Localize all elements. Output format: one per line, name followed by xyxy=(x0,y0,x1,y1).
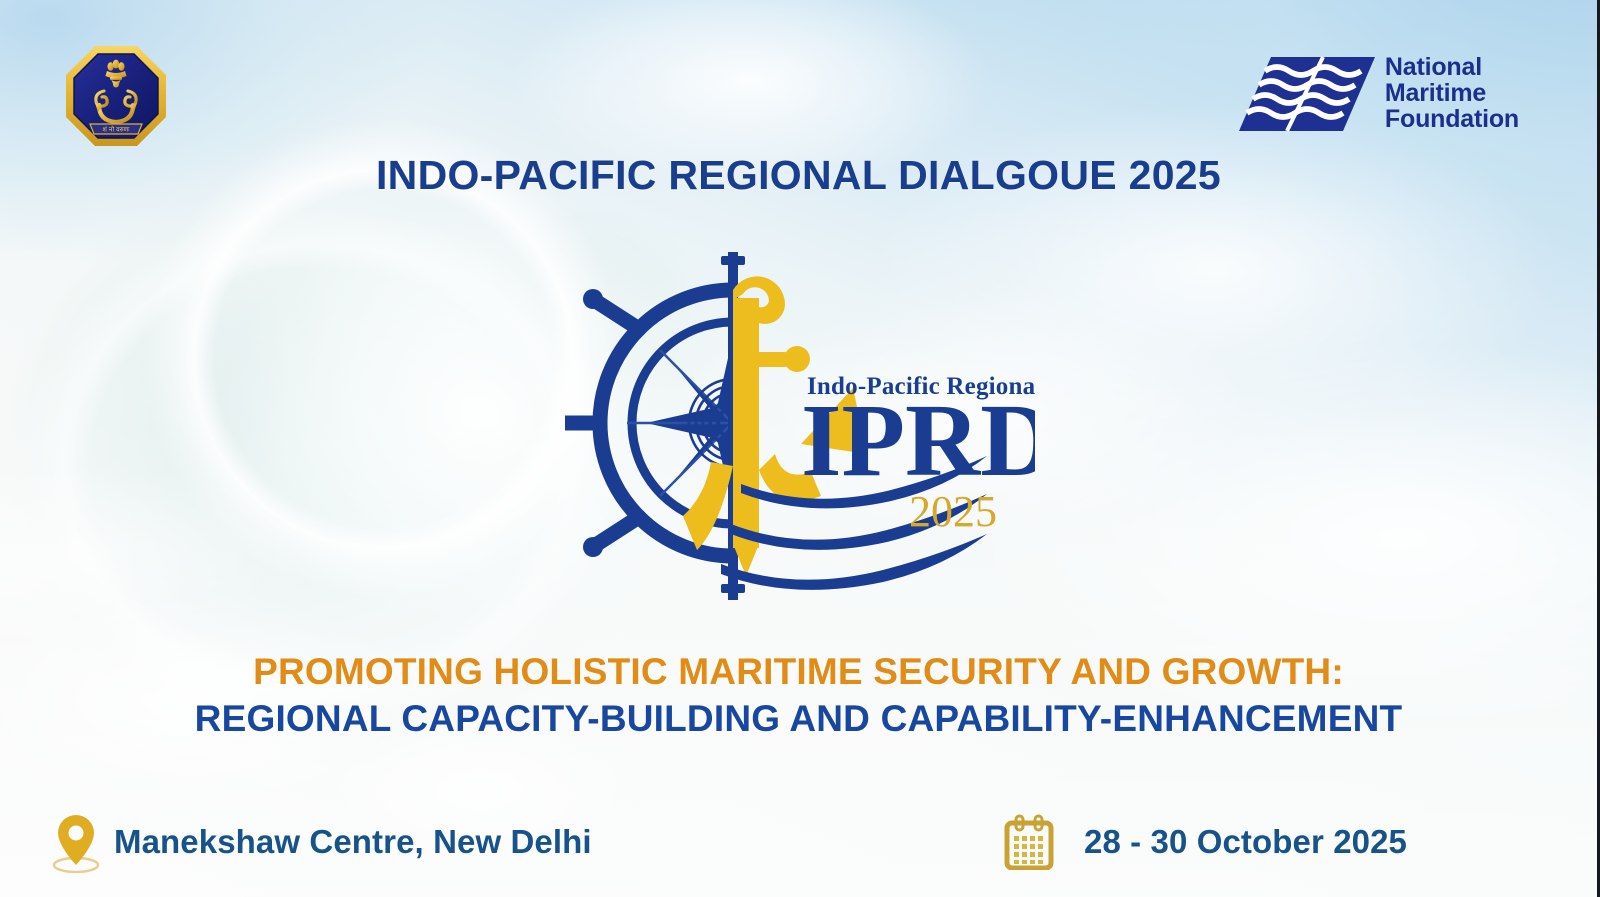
date-block: 28 - 30 October 2025 xyxy=(1004,805,1407,879)
map-pin-icon xyxy=(52,811,100,873)
national-maritime-foundation-logo-icon xyxy=(1237,55,1377,133)
poster-footer: Manekshaw Centre, New Delhi xyxy=(0,805,1597,879)
indian-navy-crest-icon: शं नो वरुणः xyxy=(62,42,170,150)
nmf-text-line-2: Maritime xyxy=(1385,81,1519,107)
venue-text: Manekshaw Centre, New Delhi xyxy=(114,823,592,861)
theme-line-2: REGIONAL CAPACITY-BUILDING AND CAPABILIT… xyxy=(0,695,1597,742)
date-text: 28 - 30 October 2025 xyxy=(1084,823,1407,861)
iprd-logo: Indo-Pacific Regional Dialogue IPRD 2025 xyxy=(565,248,1035,603)
crest-motto-banner: शं नो वरुणः xyxy=(90,124,142,134)
national-maritime-foundation-logo: National Maritime Foundation xyxy=(1237,55,1519,133)
iprd-year: 2025 xyxy=(909,487,997,536)
indian-navy-crest: शं नो वरुणः xyxy=(62,42,170,150)
nmf-text-line-3: Foundation xyxy=(1385,107,1519,133)
venue-block: Manekshaw Centre, New Delhi xyxy=(52,805,592,879)
poster-canvas: शं नो वरुणः National Maritime Foundation xyxy=(0,0,1600,897)
poster-theme: PROMOTING HOLISTIC MARITIME SECURITY AND… xyxy=(0,648,1597,743)
theme-line-1: PROMOTING HOLISTIC MARITIME SECURITY AND… xyxy=(0,648,1597,695)
poster-main-title: INDO-PACIFIC REGIONAL DIALGOUE 2025 xyxy=(0,152,1597,199)
svg-text:शं नो वरुणः: शं नो वरुणः xyxy=(103,125,131,133)
nmf-logo-text: National Maritime Foundation xyxy=(1385,55,1519,132)
calendar-icon xyxy=(1004,814,1054,870)
nmf-text-line-1: National xyxy=(1385,55,1519,81)
iprd-ships-wheel-anchor-logo-icon: Indo-Pacific Regional Dialogue IPRD 2025 xyxy=(565,248,1035,603)
iprd-acronym: IPRD xyxy=(801,383,1035,498)
